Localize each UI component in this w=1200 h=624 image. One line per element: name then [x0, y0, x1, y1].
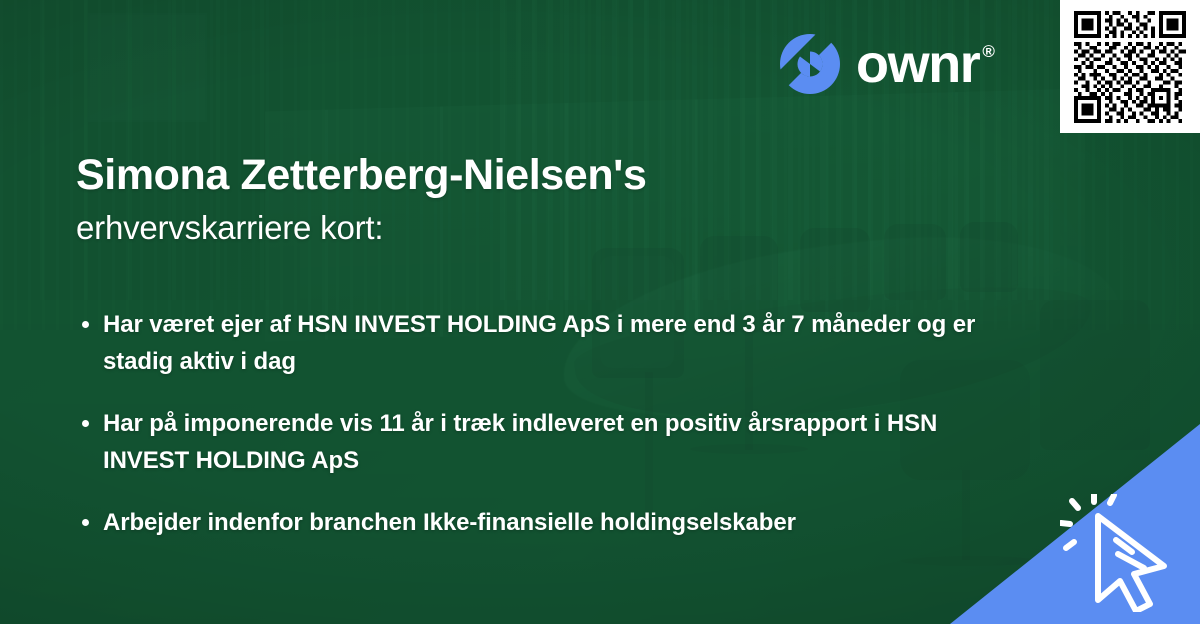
- list-item: Har på imponerende vis 11 år i træk indl…: [76, 406, 976, 479]
- page-subtitle: erhvervskarriere kort:: [76, 208, 976, 248]
- ownr-logo[interactable]: ownr ®: [778, 32, 994, 96]
- promo-card: ownr ®: [0, 0, 1200, 624]
- list-item: Har været ejer af HSN INVEST HOLDING ApS…: [76, 307, 976, 380]
- list-item: Arbejder indenfor branchen Ikke-finansie…: [76, 505, 976, 541]
- blue-corner-decoration: [950, 424, 1200, 624]
- career-facts-list: Har været ejer af HSN INVEST HOLDING ApS…: [76, 307, 976, 541]
- logo-text: ownr: [856, 37, 979, 91]
- click-cursor-icon: [1060, 494, 1190, 612]
- ownr-wordmark: ownr ®: [856, 37, 994, 91]
- card-content: Simona Zetterberg-Nielsen's erhvervskarr…: [76, 150, 976, 542]
- registered-trademark-icon: ®: [982, 43, 993, 60]
- qr-code[interactable]: [1060, 0, 1200, 133]
- qr-code-icon: [1074, 11, 1186, 123]
- ownr-circular-swirl-logo: [778, 32, 842, 96]
- page-title: Simona Zetterberg-Nielsen's: [76, 150, 976, 201]
